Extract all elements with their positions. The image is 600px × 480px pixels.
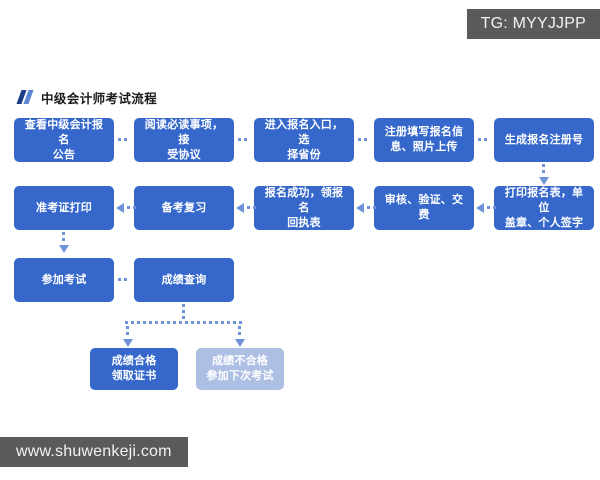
connector-arrow-down [538,164,550,186]
flow-node-generate-regno[interactable]: 生成报名注册号 [494,118,594,162]
connector-arrow-down [58,232,70,254]
flow-node-read-terms[interactable]: 阅读必读事项，接受协议 [134,118,234,162]
connector-arrow-left [476,203,516,213]
connector-arrow-left [116,203,156,213]
connector-arrow-down [122,326,134,348]
flow-node-label: 备考复习 [162,201,207,216]
flow-node-view-announcement[interactable]: 查看中级会计报名公告 [14,118,114,162]
connector-arrow-left [236,203,276,213]
flow-node-take-exam[interactable]: 参加考试 [14,258,114,302]
flowchart: 查看中级会计报名公告 阅读必读事项，接受协议 进入报名入口，选择省份 注册填写报… [0,0,600,480]
flow-node-pass-get-certificate[interactable]: 成绩合格领取证书 [90,348,178,390]
flow-node-enter-portal[interactable]: 进入报名入口，选择省份 [254,118,354,162]
flow-node-label: 成绩不合格参加下次考试 [206,354,273,384]
flow-node-fail-retake-exam[interactable]: 成绩不合格参加下次考试 [196,348,284,390]
flow-node-label: 准考证打印 [36,201,92,216]
flow-node-label: 成绩查询 [162,273,207,288]
connector-branch-stem [178,304,190,320]
flow-node-label: 查看中级会计报名公告 [21,118,107,163]
flow-node-label: 阅读必读事项，接受协议 [141,118,227,163]
connector-arrow-down [234,326,246,348]
flow-node-label: 成绩合格领取证书 [112,354,157,384]
flow-node-label: 进入报名入口，选择省份 [261,118,347,163]
flow-node-label: 注册填写报名信息、照片上传 [385,125,463,155]
flow-node-print-admission-ticket[interactable]: 准考证打印 [14,186,114,230]
flow-node-check-score[interactable]: 成绩查询 [134,258,234,302]
connector-arrow-left [356,203,396,213]
flow-node-label: 生成报名注册号 [505,133,583,148]
flow-node-register-info[interactable]: 注册填写报名信息、照片上传 [374,118,474,162]
flow-node-label: 参加考试 [42,273,87,288]
